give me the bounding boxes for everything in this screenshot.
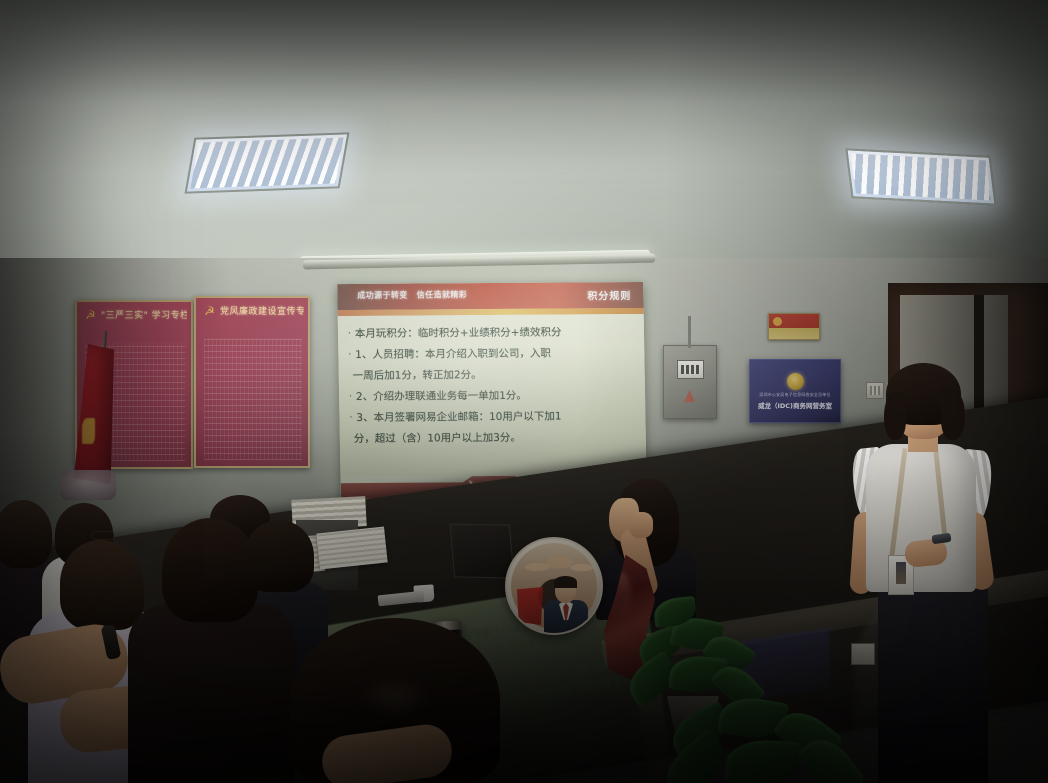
slide-bullet: · 1、人员招聘：本月介绍入职到公司，入职 [348, 345, 636, 364]
plate-hands [523, 549, 593, 579]
slide-header-band: 成功源于转变 信任造就精彩 积分规则 [337, 282, 643, 310]
attendee-hair [0, 500, 52, 568]
plaque-subtitle: 深圳市公安局电子信息网络安全员单位 [759, 392, 830, 398]
attendee-body [128, 604, 294, 783]
potted-plant-foreground [660, 690, 900, 783]
hair-highlight [360, 676, 430, 716]
slide-bullet-cont: 一周后加1分，转正加2分。 [349, 366, 637, 385]
certificate-frame [768, 313, 820, 340]
ceiling-light-panel-icon [845, 148, 996, 205]
bullet-text: 分，超过（含）10用户以上加3分。 [354, 429, 638, 448]
presenter-hair-side [884, 392, 906, 440]
eyeglasses-icon [92, 531, 114, 540]
presenter-skirt [878, 578, 988, 783]
bullet-marker: · [348, 347, 351, 364]
bullet-marker: · [348, 326, 351, 343]
ceiling-light-panel-icon [185, 132, 350, 193]
presenter-blouse [866, 444, 976, 592]
flag-base [60, 470, 116, 500]
slide-body: · 本月玩积分：临时积分+业绩积分+绩效积分 · 1、人员招聘：本月介绍入职到公… [338, 314, 647, 477]
plate-flag-icon [517, 587, 543, 625]
slide-bullet-cont: 分，超过（含）10用户以上加3分。 [350, 429, 638, 448]
slide-slogan-1: 成功源于转变 [357, 290, 408, 301]
presenter-hair-side [941, 390, 965, 440]
slide-bullet: · 本月玩积分：临时积分+业绩积分+绩效积分 [348, 324, 636, 343]
bullet-text: 3、本月签署网易企业邮箱：10用户以下加1 [356, 408, 637, 427]
attendee-hair [60, 540, 144, 630]
commemorative-plate [505, 537, 603, 635]
meter-window [677, 360, 704, 379]
bullet-marker: · [349, 410, 352, 427]
attendee-hair [162, 518, 258, 622]
party-emblem-icon: ☭ [203, 305, 216, 318]
plate-hair [554, 576, 577, 588]
light-switch-plate[interactable] [866, 382, 884, 399]
electrical-panel [663, 345, 717, 419]
plate-portrait [511, 543, 597, 629]
bullet-text: 本月玩积分：临时积分+业绩积分+绩效积分 [355, 324, 636, 343]
wall-poster: ☭ 党风廉政建设宣传专栏 [194, 296, 310, 468]
plant-leaf [725, 737, 802, 783]
bullet-text: 1、人员招聘：本月介绍入职到公司，入职 [355, 345, 636, 364]
poster-heading: 党风廉政建设宣传专栏 [220, 304, 304, 318]
meeting-room-photo: ☭ "三严三实" 学习专栏 ☭ 党风廉政建设宣传专栏 深圳市公安局电子信息网络安… [0, 0, 1048, 783]
wall-outlet-plate[interactable] [851, 643, 875, 665]
bullet-text: 2、介绍办理联通业务每一单加1分。 [356, 387, 637, 406]
poster-heading: "三严三实" 学习专栏 [101, 308, 187, 322]
slide-bullet: · 2、介绍办理联通业务每一单加1分。 [349, 387, 637, 406]
attendee-hand [629, 512, 653, 538]
bullet-marker: · [349, 389, 352, 406]
laptop[interactable] [449, 524, 514, 579]
police-emblem-icon [787, 373, 804, 390]
police-plaque: 深圳市公安局电子信息网络安全员单位 威龙（IDC)商务网营务室 [749, 359, 841, 423]
poster-body-text [204, 338, 302, 460]
slide-bullet: · 3、本月签署网易企业邮箱：10用户以下加1 [349, 408, 637, 427]
warning-mark-icon [684, 390, 695, 402]
conduit-pipe [688, 316, 691, 348]
party-emblem-icon: ☭ [84, 309, 97, 322]
document-stack [316, 527, 387, 570]
slide-slogan-2: 信任造就精彩 [417, 289, 468, 300]
bullet-text: 一周后加1分，转正加2分。 [353, 366, 637, 385]
slide-title: 积分规则 [587, 287, 631, 302]
slide-slogans: 成功源于转变 信任造就精彩 [357, 289, 467, 301]
plaque-title: 威龙（IDC)商务网营务室 [758, 400, 832, 410]
